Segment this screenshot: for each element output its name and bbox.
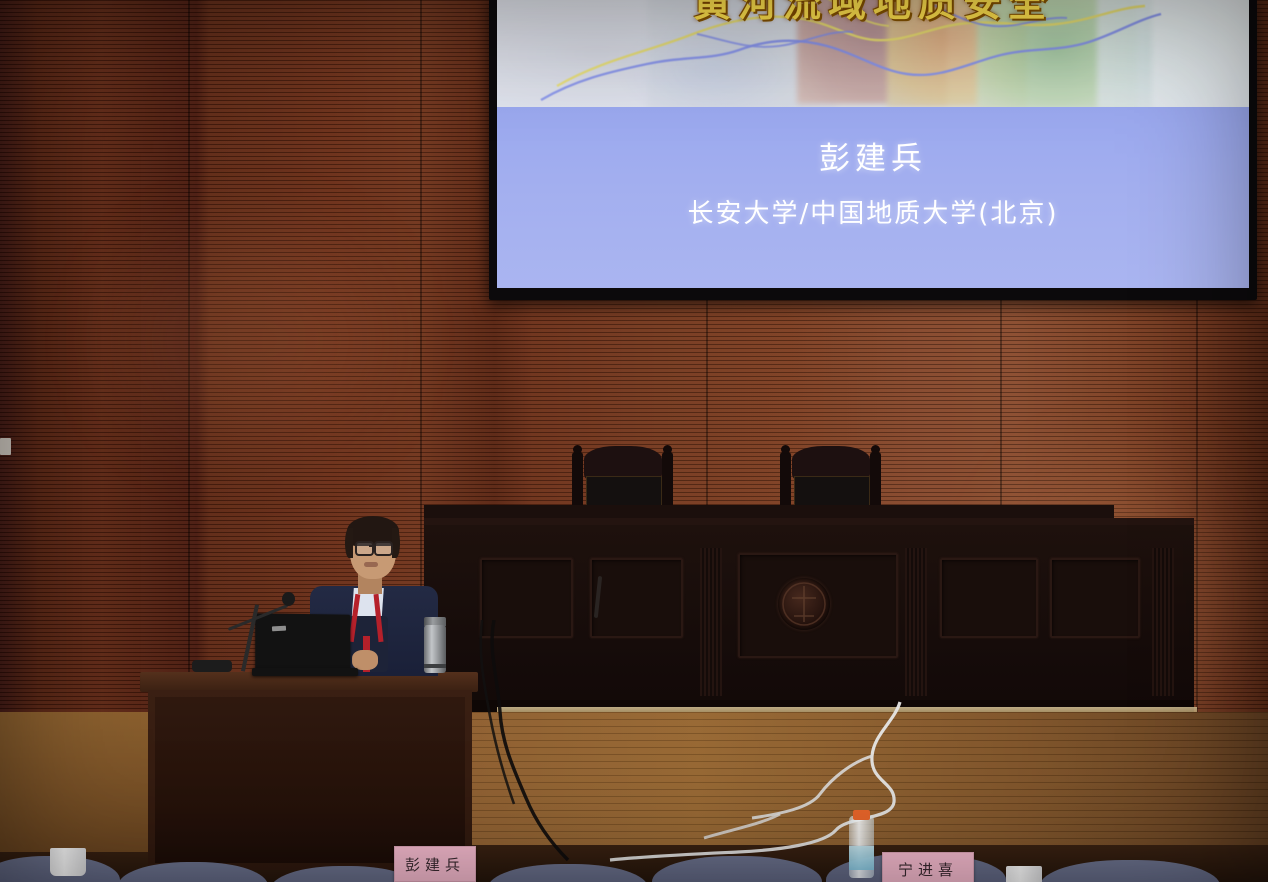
projection-screen-surface: 黄河流域地质安全 彭建兵 长安大学/中国地质大学(北京) [497,0,1249,288]
rostrum-panel [1050,558,1140,638]
projection-screen-frame: 黄河流域地质安全 彭建兵 长安大学/中国地质大学(北京) [489,0,1257,300]
paper-cup[interactable] [1006,866,1042,882]
light-switch-plate[interactable] [0,438,11,455]
slide-speaker-name: 彭建兵 [497,133,1249,178]
microphone-base [192,660,232,672]
eyeglasses-right [374,541,393,556]
paper-cup[interactable] [50,848,86,876]
rostrum-chair [570,446,678,508]
microphone-head[interactable] [282,592,295,606]
rostrum-panel [590,558,683,638]
stage-apron-left [0,712,150,852]
rostrum-panel [480,558,573,638]
laptop-base[interactable] [252,668,358,676]
laptop-lid[interactable] [255,613,350,673]
nameplate-presenter: 彭建兵 [394,846,476,882]
rostrum-chair [778,446,886,508]
water-bottle-label [849,846,874,870]
slide-lower-band: 彭建兵 长安大学/中国地质大学(北京) [497,107,1249,288]
eyeglasses-left [355,541,374,556]
slide-speaker-affiliation: 长安大学/中国地质大学(北京) [497,193,1249,230]
medallion-engraving [778,578,830,630]
lectern-frame [148,690,472,870]
laptop-logo [272,626,286,632]
rostrum-top-moulding [424,505,1114,519]
rostrum-pilaster [1152,548,1174,696]
water-bottle-cap[interactable] [853,810,870,820]
rostrum-pilaster [700,548,722,696]
rostrum-panel [940,558,1038,638]
slide-title: 黄河流域地质安全 [497,0,1249,27]
thermos-ring [424,664,446,668]
nameplate-host: 宁进喜 [882,852,974,882]
lecture-hall-photo: 黄河流域地质安全 彭建兵 长安大学/中国地质大学(北京) [0,0,1268,882]
rostrum-pilaster [905,548,927,696]
